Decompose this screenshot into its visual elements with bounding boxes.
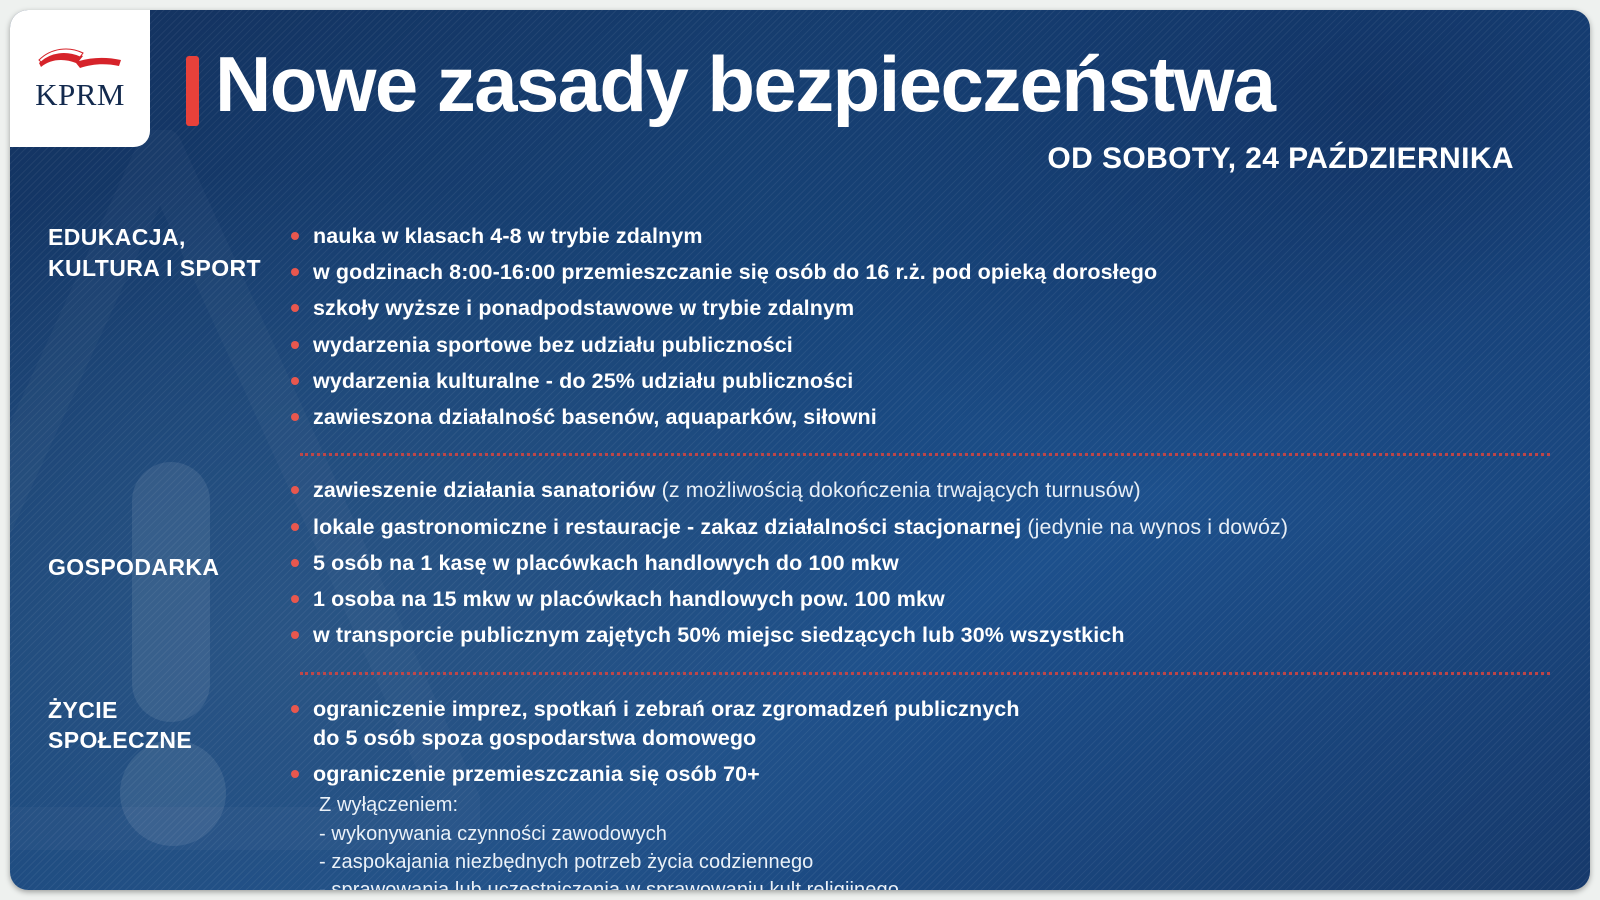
list-item: szkoły wyższe i ponadpodstawowe w trybie… — [285, 294, 1550, 323]
list-item: 1 osoba na 15 mkw w placówkach handlowyc… — [285, 585, 1550, 614]
bullet-list-gospodarka: zawieszenie działania sanatoriów (z możl… — [285, 476, 1550, 650]
list-item: wydarzenia sportowe bez udziału publiczn… — [285, 331, 1550, 360]
list-item: w transporcie publicznym zajętych 50% mi… — [285, 621, 1550, 650]
bullet-text: nauka w klasach 4-8 w trybie zdalnym — [313, 224, 703, 248]
bullet-note: (jedynie na wynos i dowóz) — [1027, 515, 1288, 539]
bullet-note: (z możliwością dokończenia trwających tu… — [662, 478, 1141, 502]
infographic-poster: KPRM Nowe zasady bezpieczeństwa OD SOBOT… — [0, 0, 1600, 900]
bullet-text: 5 osób na 1 kasę w placówkach handlowych… — [313, 551, 899, 575]
bullet-text: wydarzenia kulturalne - do 25% udziału p… — [313, 369, 853, 393]
section-body-edukacja: nauka w klasach 4-8 w trybie zdalnym w g… — [285, 222, 1590, 439]
section-divider — [300, 453, 1550, 456]
bullet-text-line2: do 5 osób spoza gospodarstwa domowego — [313, 726, 756, 750]
section-zycie-spoleczne: ŻYCIE SPOŁECZNE ograniczenie imprez, spo… — [10, 689, 1590, 890]
bullet-list-zycie-spoleczne: ograniczenie imprez, spotkań i zebrań or… — [285, 695, 1550, 890]
kprm-logo-text: KPRM — [35, 79, 125, 110]
bullet-text: wydarzenia sportowe bez udziału publiczn… — [313, 333, 793, 357]
section-heading-line2: SPOŁECZNE — [48, 725, 285, 756]
sublist-item: - zaspokajania niezbędnych potrzeb życia… — [319, 848, 1550, 876]
poster-header: Nowe zasady bezpieczeństwa OD SOBOTY, 24… — [186, 46, 1530, 176]
bullet-text: ograniczenie imprez, spotkań i zebrań or… — [313, 697, 1020, 721]
section-body-zycie-spoleczne: ograniczenie imprez, spotkań i zebrań or… — [285, 695, 1590, 890]
section-heading-line1: GOSPODARKA — [48, 552, 285, 583]
bullet-sublist: Z wyłączeniem: - wykonywania czynności z… — [313, 791, 1550, 890]
bullet-text: szkoły wyższe i ponadpodstawowe w trybie… — [313, 296, 854, 320]
bullet-list-edukacja: nauka w klasach 4-8 w trybie zdalnym w g… — [285, 222, 1550, 432]
sublist-intro: Z wyłączeniem: — [319, 791, 1550, 819]
poster-card: KPRM Nowe zasady bezpieczeństwa OD SOBOT… — [10, 10, 1590, 890]
section-divider — [300, 672, 1550, 675]
page-title: Nowe zasady bezpieczeństwa — [215, 46, 1274, 122]
list-item: w godzinach 8:00-16:00 przemieszczanie s… — [285, 258, 1550, 287]
page-subtitle: OD SOBOTY, 24 PAŹDZIERNIKA — [186, 142, 1530, 176]
bullet-text: 1 osoba na 15 mkw w placówkach handlowyc… — [313, 587, 945, 611]
list-item: 5 osób na 1 kasę w placówkach handlowych… — [285, 549, 1550, 578]
sublist-item: - sprawowania lub uczestniczenia w spraw… — [319, 876, 1550, 890]
list-item: ograniczenie imprez, spotkań i zebrań or… — [285, 695, 1550, 753]
list-item: wydarzenia kulturalne - do 25% udziału p… — [285, 367, 1550, 396]
bullet-text: w transporcie publicznym zajętych 50% mi… — [313, 623, 1125, 647]
bullet-text: zawieszenie działania sanatoriów — [313, 478, 656, 502]
list-item: ograniczenie przemieszczania się osób 70… — [285, 760, 1550, 890]
section-heading-line1: EDUKACJA, — [48, 222, 285, 253]
kprm-logo: KPRM — [10, 10, 150, 147]
list-item: zawieszenie działania sanatoriów (z możl… — [285, 476, 1550, 505]
section-gospodarka: GOSPODARKA zawieszenie działania sanator… — [10, 470, 1590, 657]
title-row: Nowe zasady bezpieczeństwa — [186, 46, 1530, 126]
section-heading-gospodarka: GOSPODARKA — [10, 552, 285, 583]
list-item: lokale gastronomiczne i restauracje - za… — [285, 513, 1550, 542]
bullet-text: zawieszona działalność basenów, aquapark… — [313, 405, 877, 429]
bullet-text: w godzinach 8:00-16:00 przemieszczanie s… — [313, 260, 1157, 284]
section-body-gospodarka: zawieszenie działania sanatoriów (z możl… — [285, 476, 1590, 657]
bullet-text: lokale gastronomiczne i restauracje - za… — [313, 515, 1021, 539]
polish-flag-emblem-icon — [35, 47, 125, 77]
sublist-item: - wykonywania czynności zawodowych — [319, 820, 1550, 848]
list-item: zawieszona działalność basenów, aquapark… — [285, 403, 1550, 432]
sections-container: EDUKACJA, KULTURA I SPORT nauka w klasac… — [10, 218, 1590, 890]
title-accent-bar — [186, 56, 199, 126]
section-heading-line1: ŻYCIE — [48, 695, 285, 726]
bullet-text: ograniczenie przemieszczania się osób 70… — [313, 762, 760, 786]
section-heading-zycie-spoleczne: ŻYCIE SPOŁECZNE — [10, 695, 285, 756]
section-heading-line2: KULTURA I SPORT — [48, 253, 285, 284]
list-item: nauka w klasach 4-8 w trybie zdalnym — [285, 222, 1550, 251]
section-edukacja: EDUKACJA, KULTURA I SPORT nauka w klasac… — [10, 218, 1590, 439]
section-heading-edukacja: EDUKACJA, KULTURA I SPORT — [10, 222, 285, 283]
